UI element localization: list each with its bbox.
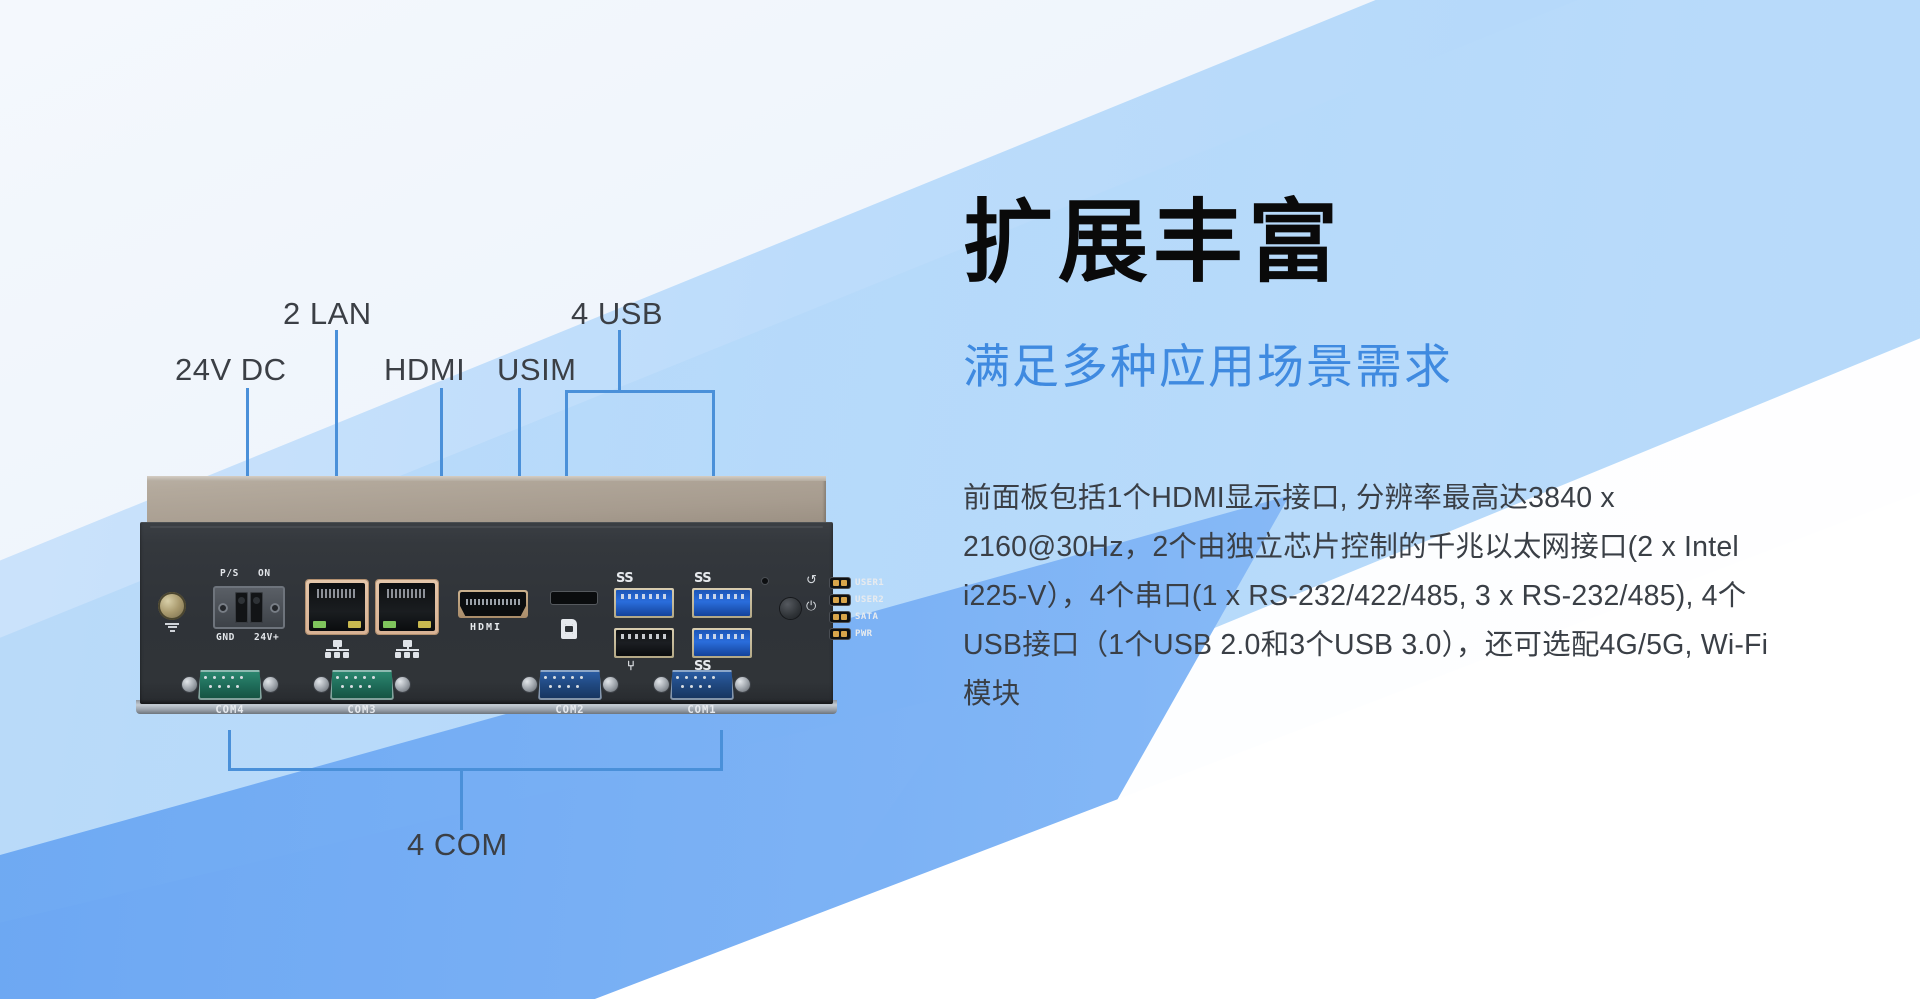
usb-port-bottom-right[interactable]	[692, 628, 752, 658]
callout-label-com: 4 COM	[407, 827, 508, 863]
device-io-face: P/S ON GND 24V+	[140, 522, 833, 704]
usim-card-slot[interactable]	[551, 592, 597, 604]
hdmi-port[interactable]	[458, 590, 528, 618]
leader-line-com-stem	[460, 770, 463, 830]
connector-pins	[235, 592, 263, 623]
sim-card-icon	[561, 619, 577, 639]
leader-line-com-left	[228, 730, 231, 770]
device-front-panel: P/S ON GND 24V+	[140, 476, 835, 728]
reset-glyph-icon: ↺	[806, 572, 817, 588]
serial-port-label-com1: COM1	[654, 704, 750, 716]
lan-port-1[interactable]	[306, 580, 368, 634]
usb-port-bottom-left[interactable]	[614, 628, 674, 658]
serial-port-com1[interactable]: COM1	[654, 670, 750, 704]
ground-stud-icon	[158, 592, 186, 620]
reset-button[interactable]	[762, 578, 768, 584]
hdmi-port-label: HDMI	[470, 622, 502, 633]
connector-screw-right	[270, 603, 280, 613]
led-row: USER2	[830, 595, 884, 605]
led-row: USER1	[830, 578, 884, 588]
callout-label-usb: 4 USB	[571, 296, 663, 332]
serial-port-label-com2: COM2	[522, 704, 618, 716]
led-row: SATA	[830, 612, 884, 622]
serial-port-com2[interactable]: COM2	[522, 670, 618, 704]
ethernet-icon-1	[324, 640, 350, 658]
lan-port-2[interactable]	[376, 580, 438, 634]
ethernet-icon-2	[394, 640, 420, 658]
leader-line-com-right	[720, 730, 723, 770]
text-column: 扩展丰富 满足多种应用场景需求 前面板包括1个HDMI显示接口, 分辨率最高达3…	[963, 196, 1823, 719]
db9-pins	[544, 676, 596, 694]
leader-line-usb-stem	[618, 330, 621, 392]
led-label-user2: USER2	[855, 595, 884, 605]
subtitle: 满足多种应用场景需求	[963, 339, 1823, 395]
power-connector-label-24v: 24V+	[254, 632, 279, 643]
usb2-icon-bottom-left: ⑂	[627, 660, 657, 674]
power-glyph-icon: ⏻	[806, 598, 816, 614]
serial-port-label-com3: COM3	[314, 704, 410, 716]
callout-label-dc-in: 24V DC	[175, 352, 287, 388]
slide-canvas: 扩展丰富 满足多种应用场景需求 前面板包括1个HDMI显示接口, 分辨率最高达3…	[0, 0, 1920, 999]
led-lamp-pwr	[830, 629, 850, 639]
serial-port-com3[interactable]: COM3	[314, 670, 410, 704]
usb-port-top-left[interactable]	[614, 588, 674, 618]
db9-pins	[336, 676, 388, 694]
db9-pins	[204, 676, 256, 694]
device-heatsink-top	[147, 476, 826, 524]
power-connector-label-on: ON	[258, 568, 271, 579]
power-button[interactable]	[780, 598, 801, 619]
power-connector-label-ps: P/S	[220, 568, 239, 579]
callout-label-usim: USIM	[497, 352, 577, 388]
description-paragraph: 前面板包括1个HDMI显示接口, 分辨率最高达3840 x 2160@30Hz，…	[963, 474, 1791, 719]
leader-line-com-bracket	[228, 768, 723, 771]
led-indicator-bank: USER1 USER2 SATA PWR	[830, 578, 884, 646]
callout-label-lan: 2 LAN	[283, 296, 372, 332]
serial-port-com4[interactable]: COM4	[182, 670, 278, 704]
connector-screw-left	[218, 603, 228, 613]
page-title: 扩展丰富	[963, 196, 1823, 291]
led-lamp-user1	[830, 578, 850, 588]
led-label-user1: USER1	[855, 578, 884, 588]
dc-power-connector[interactable]	[213, 586, 285, 629]
led-lamp-sata	[830, 612, 850, 622]
led-label-pwr: PWR	[855, 629, 872, 639]
callout-label-hdmi: HDMI	[384, 352, 465, 388]
power-connector-label-gnd: GND	[216, 632, 235, 643]
usb3-icon-top-left: SS	[616, 572, 646, 586]
led-label-sata: SATA	[855, 612, 878, 622]
usb-port-top-right[interactable]	[692, 588, 752, 618]
led-row: PWR	[830, 629, 884, 639]
usb3-icon-top-right: SS	[694, 572, 724, 586]
led-lamp-user2	[830, 595, 850, 605]
leader-line-usb-bracket	[565, 390, 715, 393]
serial-port-label-com4: COM4	[182, 704, 278, 716]
db9-pins	[676, 676, 728, 694]
